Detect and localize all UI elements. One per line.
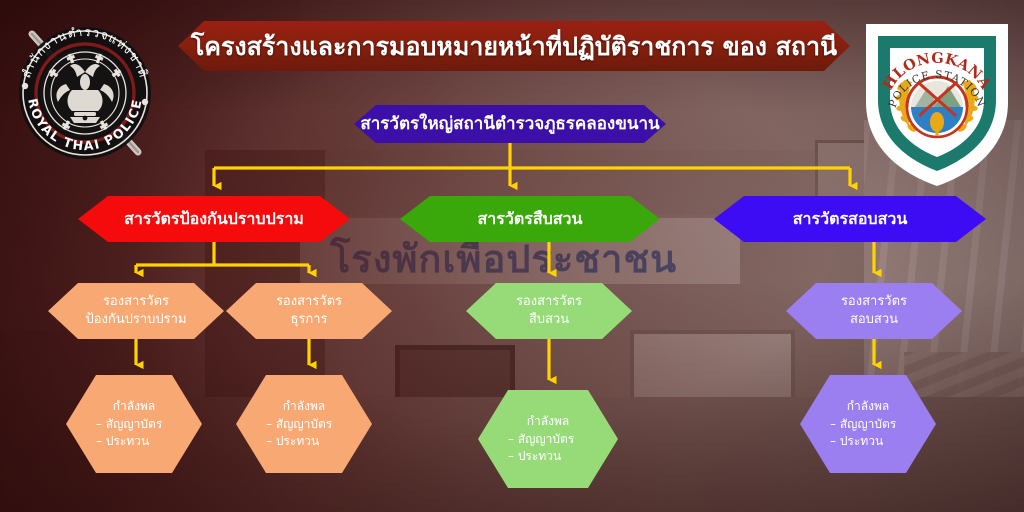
node-deputy-prevention-line1: รองสารวัตร [103, 293, 169, 311]
node-division-investigation[interactable]: สารวัตรสืบสวน [400, 196, 660, 242]
node-personnel-inquiry-heading: กำลังพล [847, 398, 889, 415]
node-deputy-admin[interactable]: รองสารวัตร ธุรการ [226, 283, 392, 339]
node-personnel-inquiry-item1: – สัญญาบัตร [800, 416, 896, 433]
node-personnel-investigation-item1: – สัญญาบัตร [478, 431, 574, 448]
org-chart-poster: โรงพักเพื่อประชาชน [0, 0, 1024, 512]
node-deputy-prevention[interactable]: รองสารวัตร ป้องกันปราบปราม [48, 283, 224, 339]
node-personnel-investigation[interactable]: กำลังพล – สัญญาบัตร – ประทวน [478, 390, 618, 488]
node-deputy-inquiry-line1: รองสารวัตร [841, 293, 907, 311]
node-personnel-admin-item1: – สัญญาบัตร [236, 416, 332, 433]
node-personnel-investigation-heading: กำลังพล [527, 413, 569, 430]
node-personnel-prevention-heading: กำลังพล [113, 398, 155, 415]
node-deputy-investigation-line1: รองสารวัตร [516, 293, 582, 311]
node-deputy-inquiry-line2: สอบสวน [850, 311, 898, 329]
node-personnel-prevention-item1: – สัญญาบัตร [66, 416, 162, 433]
node-chief[interactable]: สารวัตรใหญ่สถานีตำรวจภูธรคลองขนาน [354, 105, 666, 143]
node-division-prevention-label: สารวัตรป้องกันปราบปราม [124, 208, 304, 231]
node-deputy-investigation-line2: สืบสวน [529, 311, 569, 329]
title-banner-text: โครงสร้างและการมอบหมายหน้าที่ปฏิบัติราชก… [191, 34, 837, 59]
khlongkanan-police-badge-icon: KHLONGKANAN POLICE STATION [860, 14, 1014, 186]
node-division-investigation-label: สารวัตรสืบสวน [478, 208, 583, 231]
node-deputy-admin-line1: รองสารวัตร [276, 293, 342, 311]
node-deputy-investigation[interactable]: รองสารวัตร สืบสวน [466, 283, 632, 339]
title-banner: โครงสร้างและการมอบหมายหน้าที่ปฏิบัติราชก… [178, 21, 850, 71]
node-deputy-admin-line2: ธุรการ [290, 311, 327, 329]
node-division-inquiry[interactable]: สารวัตรสอบสวน [714, 196, 986, 242]
node-deputy-prevention-line2: ป้องกันปราบปราม [85, 311, 186, 329]
node-deputy-inquiry[interactable]: รองสารวัตร สอบสวน [786, 283, 962, 339]
node-personnel-admin-heading: กำลังพล [283, 398, 325, 415]
node-division-inquiry-label: สารวัตรสอบสวน [793, 208, 908, 231]
node-chief-label: สารวัตรใหญ่สถานีตำรวจภูธรคลองขนาน [360, 112, 659, 136]
node-division-prevention[interactable]: สารวัตรป้องกันปราบปราม [78, 196, 350, 242]
royal-thai-police-seal-icon: สำนักงานตำรวจแห่งชาติ ROYAL THAI POLICE [10, 18, 160, 168]
